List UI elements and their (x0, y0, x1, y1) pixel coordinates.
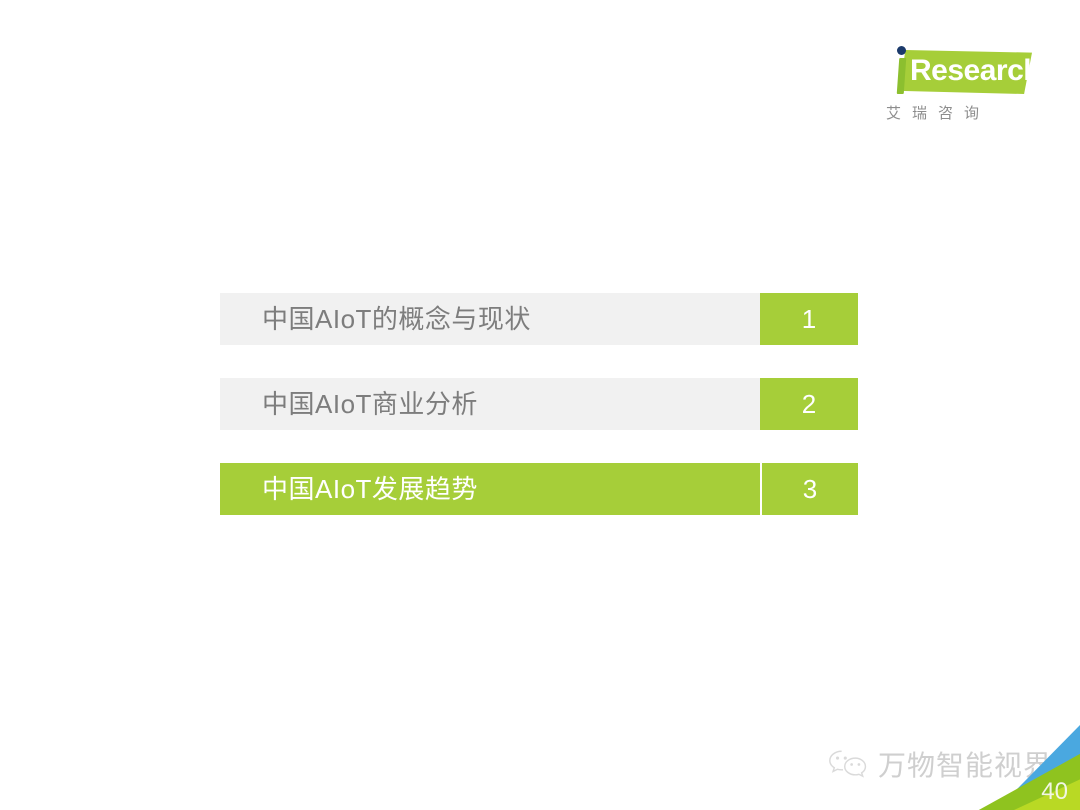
logo-i-dot-icon (897, 46, 906, 55)
logo-wordmark: Research (910, 53, 1030, 89)
agenda-label-3[interactable]: 中国AIoT发展趋势 (220, 463, 760, 515)
agenda-number-box-2[interactable]: 2 (760, 378, 858, 430)
agenda-label-2[interactable]: 中国AIoT商业分析 (220, 378, 760, 430)
agenda-list: 中国AIoT的概念与现状 1 中国AIoT商业分析 2 中国AIoT发展趋势 3 (220, 293, 858, 515)
iresearch-logo: Research 艾瑞咨询 (880, 46, 1040, 130)
agenda-row-1[interactable]: 中国AIoT的概念与现状 1 (220, 293, 858, 345)
agenda-number-box-1[interactable]: 1 (760, 293, 858, 345)
slide-canvas: Research 艾瑞咨询 中国AIoT的概念与现状 1 中国AIoT商业分析 … (0, 0, 1080, 810)
agenda-number-box-3[interactable]: 3 (760, 463, 858, 515)
agenda-label-text-3: 中国AIoT发展趋势 (262, 476, 478, 502)
logo-mark: Research (880, 46, 1040, 98)
logo-chinese-name: 艾瑞咨询 (886, 102, 1036, 123)
agenda-row-3[interactable]: 中国AIoT发展趋势 3 (220, 463, 858, 515)
agenda-label-1[interactable]: 中国AIoT的概念与现状 (220, 293, 760, 345)
wechat-icon (828, 748, 868, 780)
agenda-label-text-2: 中国AIoT商业分析 (262, 391, 478, 417)
agenda-row-2[interactable]: 中国AIoT商业分析 2 (220, 378, 858, 430)
agenda-number-text-3: 3 (803, 476, 817, 502)
agenda-label-text-1: 中国AIoT的概念与现状 (262, 306, 531, 332)
page-number: 40 (1041, 780, 1068, 804)
agenda-number-text-2: 2 (802, 391, 816, 417)
agenda-number-text-1: 1 (802, 306, 816, 332)
